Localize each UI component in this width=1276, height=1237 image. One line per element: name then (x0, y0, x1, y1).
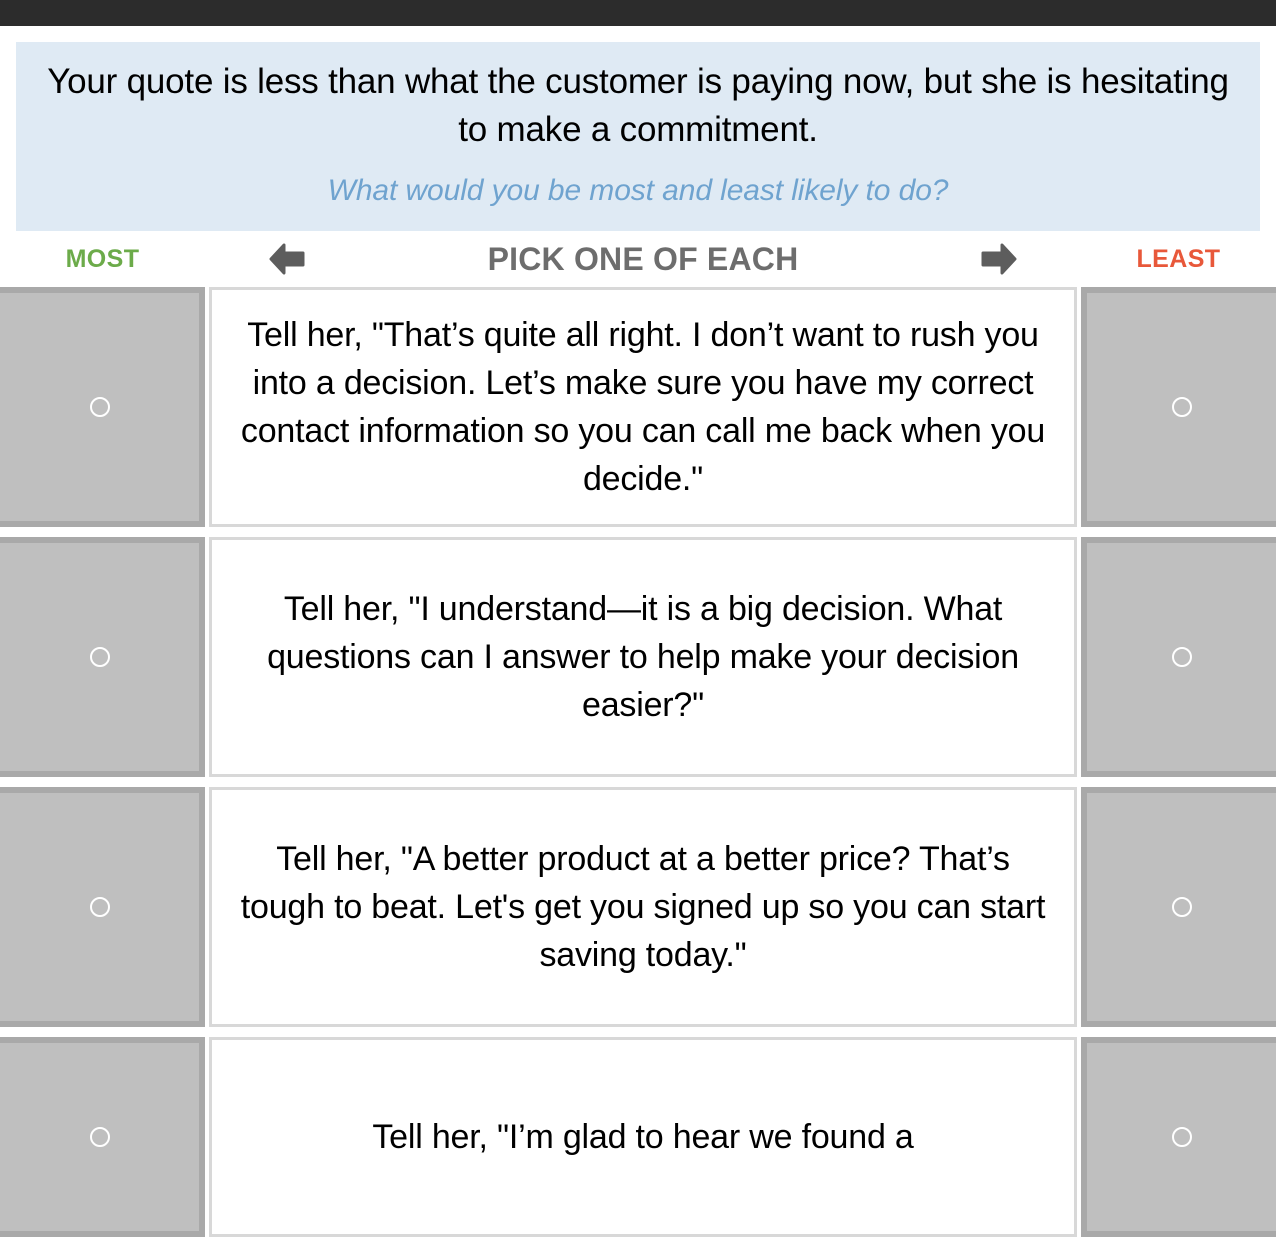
least-choice-cell-2[interactable] (1081, 537, 1276, 777)
option-row: Tell her, "That’s quite all right. I don… (0, 287, 1276, 527)
most-choice-cell-3[interactable] (0, 787, 205, 1027)
option-label: Tell her, "That’s quite all right. I don… (230, 311, 1056, 504)
option-row: Tell her, "A better product at a better … (0, 787, 1276, 1027)
radio-circle-icon[interactable] (90, 1127, 110, 1147)
radio-circle-icon[interactable] (1172, 647, 1192, 667)
radio-circle-icon[interactable] (1172, 897, 1192, 917)
next-question-button[interactable] (977, 241, 1021, 277)
radio-circle-icon[interactable] (90, 397, 110, 417)
least-column-label: LEAST (1081, 245, 1276, 274)
previous-question-button[interactable] (265, 241, 309, 277)
scenario-panel: Your quote is less than what the custome… (16, 42, 1260, 231)
choice-header: MOST PICK ONE OF EACH LEAST (0, 231, 1276, 287)
option-text-cell-1[interactable]: Tell her, "That’s quite all right. I don… (209, 287, 1077, 527)
least-choice-cell-1[interactable] (1081, 287, 1276, 527)
arrow-right-icon (979, 242, 1019, 276)
option-text-cell-2[interactable]: Tell her, "I understand—it is a big deci… (209, 537, 1077, 777)
prompt-container: Your quote is less than what the custome… (0, 26, 1276, 231)
least-choice-cell-4[interactable] (1081, 1037, 1276, 1237)
scenario-text: Your quote is less than what the custome… (38, 58, 1238, 155)
most-column-label: MOST (0, 245, 205, 274)
radio-circle-icon[interactable] (1172, 1127, 1192, 1147)
page-title: PICK ONE OF EACH (309, 241, 977, 278)
option-row: Tell her, "I understand—it is a big deci… (0, 537, 1276, 777)
option-label: Tell her, "I’m glad to hear we found a (372, 1113, 913, 1161)
option-text-cell-3[interactable]: Tell her, "A better product at a better … (209, 787, 1077, 1027)
most-choice-cell-4[interactable] (0, 1037, 205, 1237)
least-choice-cell-3[interactable] (1081, 787, 1276, 1027)
option-row: Tell her, "I’m glad to hear we found a (0, 1037, 1276, 1237)
option-label: Tell her, "A better product at a better … (230, 835, 1056, 980)
header-center: PICK ONE OF EACH (205, 241, 1081, 278)
most-choice-cell-1[interactable] (0, 287, 205, 527)
status-bar (0, 0, 1276, 26)
radio-circle-icon[interactable] (90, 897, 110, 917)
arrow-left-icon (267, 242, 307, 276)
most-choice-cell-2[interactable] (0, 537, 205, 777)
options-list: Tell her, "That’s quite all right. I don… (0, 287, 1276, 1237)
option-text-cell-4[interactable]: Tell her, "I’m glad to hear we found a (209, 1037, 1077, 1237)
scenario-question: What would you be most and least likely … (38, 171, 1238, 212)
option-label: Tell her, "I understand—it is a big deci… (230, 585, 1056, 730)
radio-circle-icon[interactable] (90, 647, 110, 667)
radio-circle-icon[interactable] (1172, 397, 1192, 417)
